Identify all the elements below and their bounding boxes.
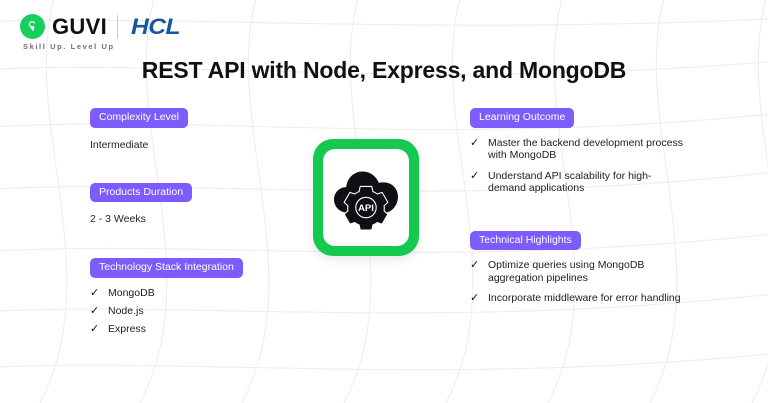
list-item: ✓ Express [90,323,305,336]
cloud-gear-api-icon: API [332,165,400,231]
list-item: ✓ MongoDB [90,287,305,300]
technology-stack-list: ✓ MongoDB ✓ Node.js ✓ Express [90,287,305,336]
list-item-label: MongoDB [108,287,155,300]
badge-learning-outcome: Learning Outcome [470,108,574,128]
badge-complexity-level: Complexity Level [90,108,188,128]
badge-technical-highlights: Technical Highlights [470,231,581,251]
check-icon: ✓ [90,305,100,318]
list-item: ✓ Optimize queries using MongoDB aggrega… [470,259,685,284]
left-column: Complexity Level Intermediate Products D… [90,107,305,336]
check-icon: ✓ [470,170,480,183]
brand-logo: GUVI HCL Skill Up. Level Up [20,13,175,51]
logo-divider [117,15,118,39]
list-item: ✓ Understand API scalability for high-de… [470,170,685,195]
list-item-label: Express [108,323,146,336]
section-complexity-level: Complexity Level Intermediate [90,107,305,151]
list-item: ✓ Incorporate middleware for error handl… [470,292,685,305]
complexity-level-value: Intermediate [90,139,305,151]
list-item-label: Master the backend development process w… [488,137,685,162]
check-icon: ✓ [90,323,100,336]
section-technology-stack: Technology Stack Integration ✓ MongoDB ✓… [90,257,305,336]
badge-products-duration: Products Duration [90,183,192,203]
badge-technology-stack-integration: Technology Stack Integration [90,258,243,278]
section-technical-highlights: Technical Highlights ✓ Optimize queries … [470,230,685,306]
check-icon: ✓ [470,292,480,305]
list-item: ✓ Master the backend development process… [470,137,685,162]
slide-canvas: GUVI HCL Skill Up. Level Up REST API wit… [0,0,768,403]
products-duration-value: 2 - 3 Weeks [90,213,305,225]
list-item-label: Optimize queries using MongoDB aggregati… [488,259,685,284]
check-icon: ✓ [470,259,480,272]
center-icon-card: API [313,139,419,256]
right-column: Learning Outcome ✓ Master the backend de… [470,107,685,305]
list-item-label: Node.js [108,305,144,318]
technical-highlights-list: ✓ Optimize queries using MongoDB aggrega… [470,259,685,305]
check-icon: ✓ [90,287,100,300]
section-products-duration: Products Duration 2 - 3 Weeks [90,182,305,226]
check-icon: ✓ [470,137,480,150]
hcl-wordmark: HCL [131,16,180,38]
api-label: API [358,202,374,213]
list-item: ✓ Node.js [90,305,305,318]
logo-row: GUVI HCL [20,13,175,40]
list-item-label: Understand API scalability for high-dema… [488,170,685,195]
brand-tagline: Skill Up. Level Up [23,42,175,51]
list-item-label: Incorporate middleware for error handlin… [488,292,681,305]
guvi-g-icon [20,14,45,39]
section-learning-outcome: Learning Outcome ✓ Master the backend de… [470,107,685,195]
learning-outcome-list: ✓ Master the backend development process… [470,137,685,195]
page-title: REST API with Node, Express, and MongoDB [0,57,768,84]
guvi-wordmark: GUVI [52,16,107,38]
center-icon-card-inner: API [323,149,409,246]
